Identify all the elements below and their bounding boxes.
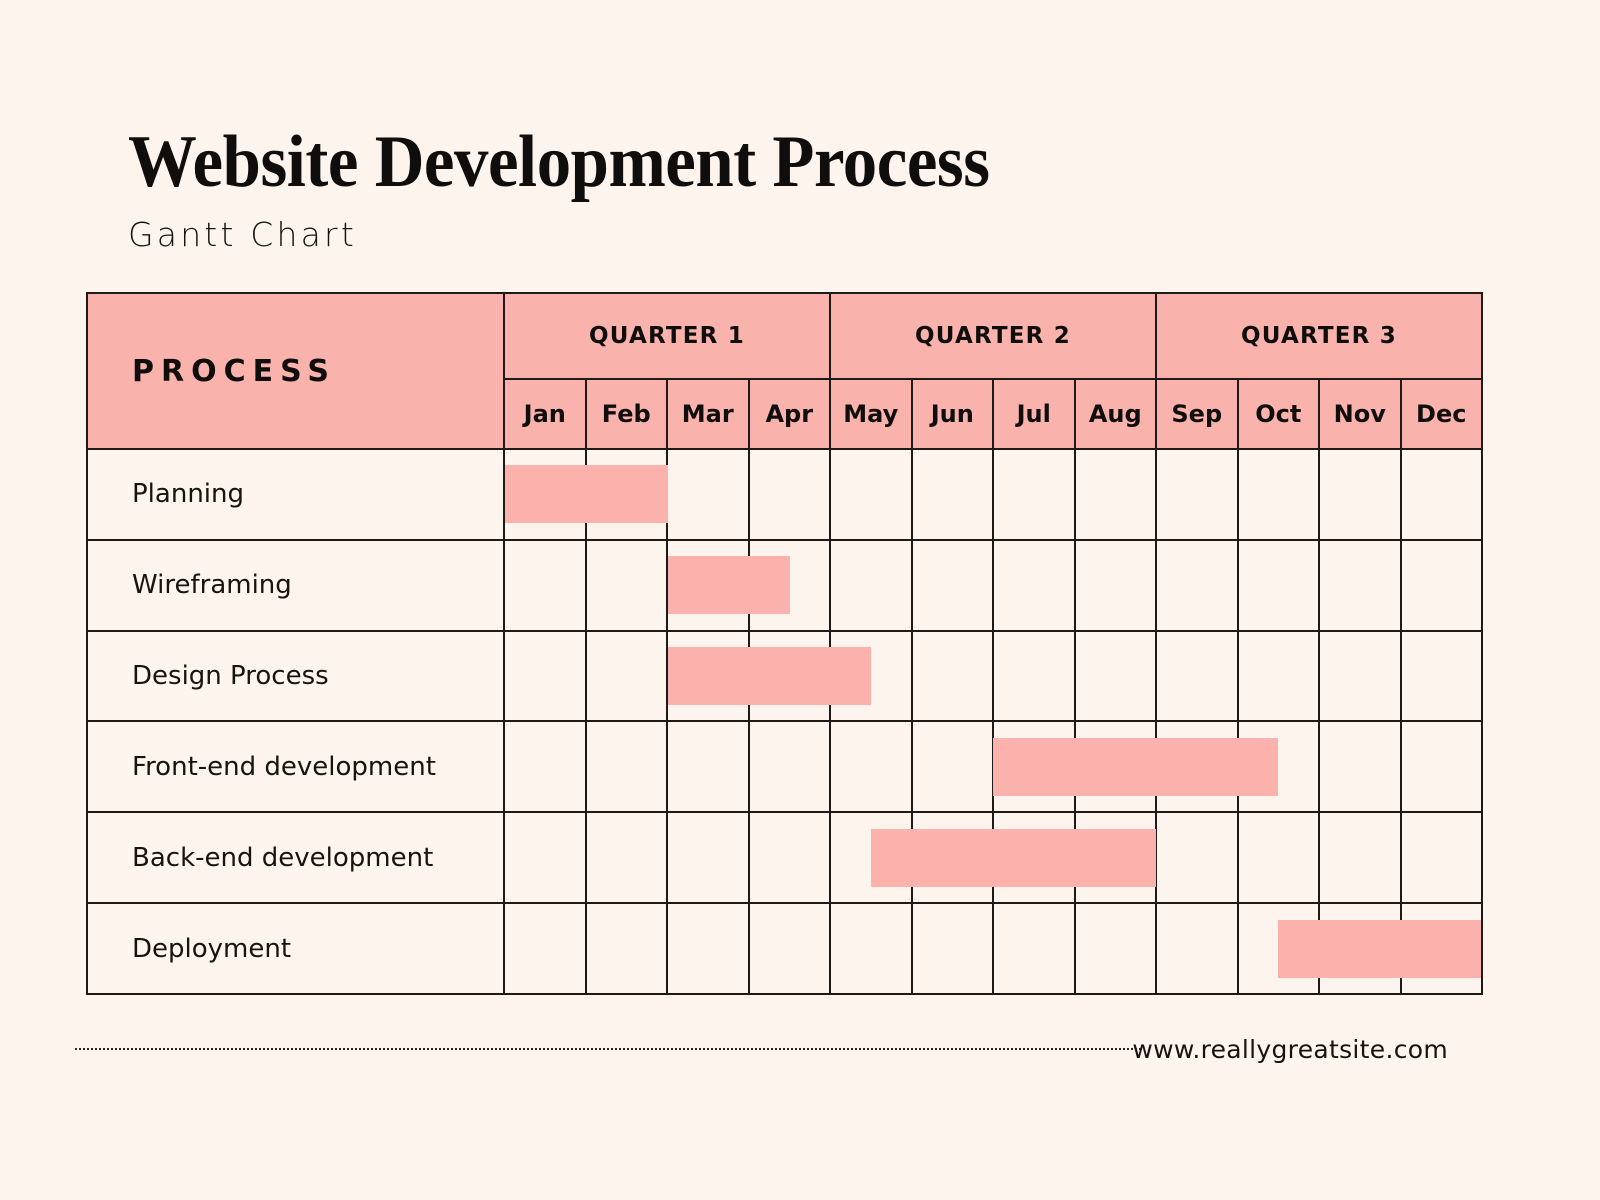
month-grid-cell (913, 450, 995, 539)
process-row-label-cell: Deployment (88, 904, 505, 995)
month-grid-cell (831, 541, 913, 630)
month-grid-cell (750, 450, 832, 539)
month-grid-cell (1076, 541, 1158, 630)
month-grid-cell (1239, 632, 1321, 721)
month-grid-cell (1076, 904, 1158, 995)
gantt-chart-page: Website Development Process Gantt Chart … (0, 0, 1600, 1200)
process-row-label-cell: Front-end development (88, 722, 505, 811)
month-grid-cell (1157, 813, 1239, 902)
month-grid-cell (1239, 541, 1321, 630)
month-grid-cell (505, 541, 587, 630)
month-grid-cell (1157, 541, 1239, 630)
process-column-header-label: PROCESS (132, 354, 336, 389)
page-title: Website Development Process (128, 122, 1337, 202)
table-row: Back-end development (88, 813, 1481, 904)
month-grid-cell (1402, 813, 1482, 902)
month-grid-cell (750, 813, 832, 902)
month-grid-cell (1402, 541, 1482, 630)
month-grid-cell (1076, 450, 1158, 539)
month-grid-cell (505, 722, 587, 811)
month-header-row: Jan Feb Mar Apr May Jun Jul Aug Sep Oct … (505, 380, 1481, 448)
process-row-label: Planning (132, 479, 244, 509)
month-grid-cell (1402, 632, 1482, 721)
process-row-label-cell: Back-end development (88, 813, 505, 902)
month-header-cell: Apr (750, 380, 832, 448)
website-url: www.reallygreatsite.com (1132, 1035, 1448, 1064)
month-grid-cell (913, 541, 995, 630)
month-header-cell: Dec (1402, 380, 1482, 448)
month-grid-cell (1402, 722, 1482, 811)
process-row-label: Back-end development (132, 843, 433, 873)
month-grid-cell (913, 632, 995, 721)
process-row-label-cell: Planning (88, 450, 505, 539)
month-grid (505, 541, 1481, 630)
month-grid-cell (913, 904, 995, 995)
month-grid-cell (587, 541, 669, 630)
gantt-bar[interactable] (993, 738, 1278, 796)
month-header-cell: Jun (913, 380, 995, 448)
process-row-label: Front-end development (132, 752, 436, 782)
table-row: Front-end development (88, 722, 1481, 813)
gantt-bar[interactable] (505, 465, 668, 523)
process-row-label: Design Process (132, 661, 329, 691)
month-header-cell: Aug (1076, 380, 1158, 448)
month-grid-cell (668, 722, 750, 811)
footer-divider (75, 1048, 1141, 1050)
quarter-header-cell: QUARTER 3 (1157, 294, 1481, 378)
table-header: PROCESS QUARTER 1 QUARTER 2 QUARTER 3 Ja… (88, 294, 1481, 450)
quarter-header-row: QUARTER 1 QUARTER 2 QUARTER 3 (505, 294, 1481, 380)
month-grid-cell (1157, 450, 1239, 539)
month-grid-cell (1320, 813, 1402, 902)
month-grid-cell (831, 904, 913, 995)
table-row: Design Process (88, 632, 1481, 723)
month-grid-cell (587, 722, 669, 811)
month-grid (505, 632, 1481, 721)
month-grid-cell (505, 813, 587, 902)
month-grid-cell (1320, 450, 1402, 539)
gantt-bar[interactable] (1278, 920, 1481, 978)
month-header-cell: Mar (668, 380, 750, 448)
month-grid-cell (831, 450, 913, 539)
month-grid-cell (668, 450, 750, 539)
month-grid-cell (505, 904, 587, 995)
title-block: Website Development Process Gantt Chart (128, 122, 1428, 254)
process-row-label-cell: Design Process (88, 632, 505, 721)
month-grid-cell (1239, 813, 1321, 902)
gantt-table: PROCESS QUARTER 1 QUARTER 2 QUARTER 3 Ja… (86, 292, 1483, 995)
table-row: Planning (88, 450, 1481, 541)
month-grid-cell (1157, 904, 1239, 995)
month-grid-cell (1402, 450, 1482, 539)
month-grid-cell (994, 632, 1076, 721)
month-grid-cell (668, 813, 750, 902)
month-grid-cell (1320, 541, 1402, 630)
gantt-bar[interactable] (668, 647, 871, 705)
page-subtitle: Gantt Chart (128, 216, 1428, 254)
table-row: Wireframing (88, 541, 1481, 632)
month-grid-cell (587, 813, 669, 902)
quarter-header-cell: QUARTER 2 (831, 294, 1157, 378)
month-grid-cell (587, 904, 669, 995)
table-body: PlanningWireframingDesign ProcessFront-e… (88, 450, 1481, 993)
month-header-cell: Jan (505, 380, 587, 448)
month-grid-cell (913, 722, 995, 811)
month-grid-cell (994, 541, 1076, 630)
month-grid-cell (1157, 632, 1239, 721)
process-row-label: Deployment (132, 934, 291, 964)
month-grid-cell (1320, 632, 1402, 721)
month-header-cell: Feb (587, 380, 669, 448)
gantt-bar[interactable] (871, 829, 1156, 887)
month-header-cell: May (831, 380, 913, 448)
month-grid-cell (750, 904, 832, 995)
month-grid-cell (750, 722, 832, 811)
quarter-header-cell: QUARTER 1 (505, 294, 831, 378)
month-grid-cell (668, 904, 750, 995)
table-row: Deployment (88, 904, 1481, 995)
process-row-label-cell: Wireframing (88, 541, 505, 630)
month-grid-cell (1239, 450, 1321, 539)
process-column-header: PROCESS (88, 294, 505, 448)
month-grid-cell (831, 722, 913, 811)
month-grid-cell (994, 450, 1076, 539)
month-grid-cell (1320, 722, 1402, 811)
month-header-cell: Nov (1320, 380, 1402, 448)
process-row-label: Wireframing (132, 570, 292, 600)
footer: www.reallygreatsite.com (75, 1035, 1525, 1075)
month-grid-cell (587, 632, 669, 721)
month-grid-cell (994, 904, 1076, 995)
month-grid-cell (1076, 632, 1158, 721)
month-header-cell: Oct (1239, 380, 1321, 448)
month-header-cell: Jul (994, 380, 1076, 448)
gantt-bar[interactable] (668, 556, 790, 614)
month-header-cell: Sep (1157, 380, 1239, 448)
month-grid-cell (505, 632, 587, 721)
